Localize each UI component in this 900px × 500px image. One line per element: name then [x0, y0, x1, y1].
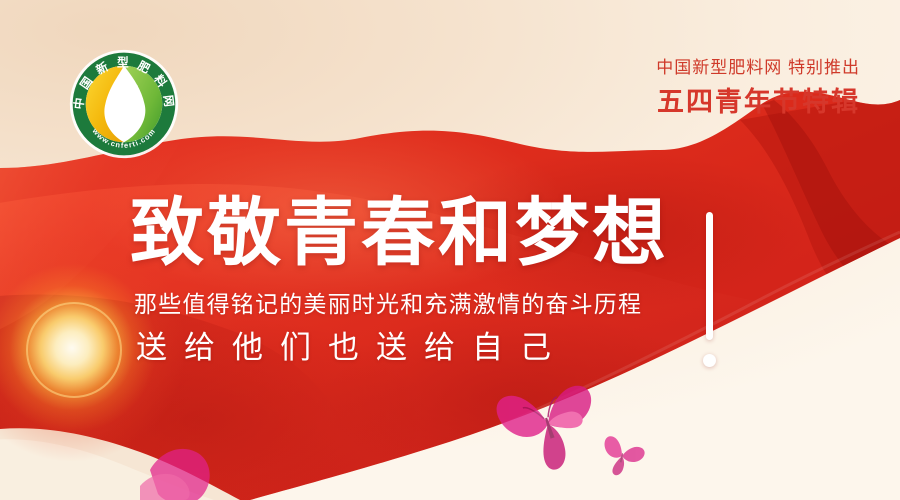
- cnferti-logo[interactable]: 中 国 新 型 肥 料 网 www.cnferti.com: [68, 48, 180, 160]
- exclamation-bar: [706, 212, 713, 340]
- main-copy-block: 致敬青春和梦想 那些值得铭记的美丽时光和充满激情的奋斗历程 送给他们也送给自己: [130, 196, 669, 365]
- tagline: 送给他们也送给自己: [136, 331, 669, 365]
- subtitle: 那些值得铭记的美丽时光和充满激情的奋斗历程: [134, 292, 669, 317]
- promo-title-line: 五四青年节特辑: [656, 87, 860, 118]
- promo-source-line: 中国新型肥料网 特别推出: [656, 58, 860, 78]
- page-title: 致敬青春和梦想: [130, 196, 669, 270]
- exclamation-accent: [706, 212, 716, 367]
- topright-text-block: 中国新型肥料网 特别推出 五四青年节特辑: [656, 58, 860, 118]
- exclamation-dot: [703, 354, 716, 367]
- banner-root: 中 国 新 型 肥 料 网 www.cnferti.com 中国新型肥料网 特别…: [0, 0, 900, 500]
